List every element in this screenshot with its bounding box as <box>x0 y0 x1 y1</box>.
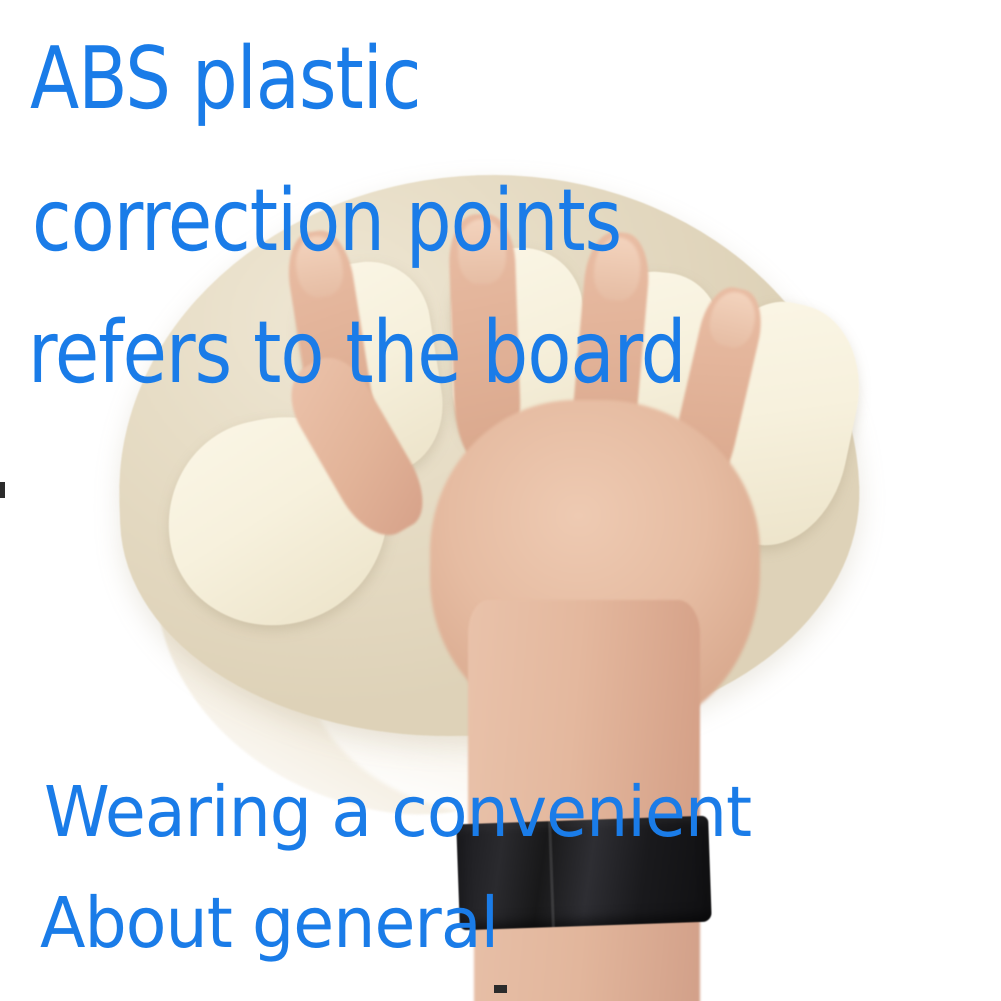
subhead-line-1: Wearing a convenient <box>44 777 751 847</box>
headline-line-2: correction points <box>32 178 621 264</box>
product-image-canvas: ABS plastic correction points refers to … <box>0 0 1001 1001</box>
stray-mark-bottom <box>494 985 507 993</box>
stray-mark-left <box>0 482 5 498</box>
headline-line-1: ABS plastic <box>30 36 420 122</box>
subhead-line-2: About general <box>40 888 498 958</box>
headline-line-3: refers to the board <box>28 310 686 396</box>
